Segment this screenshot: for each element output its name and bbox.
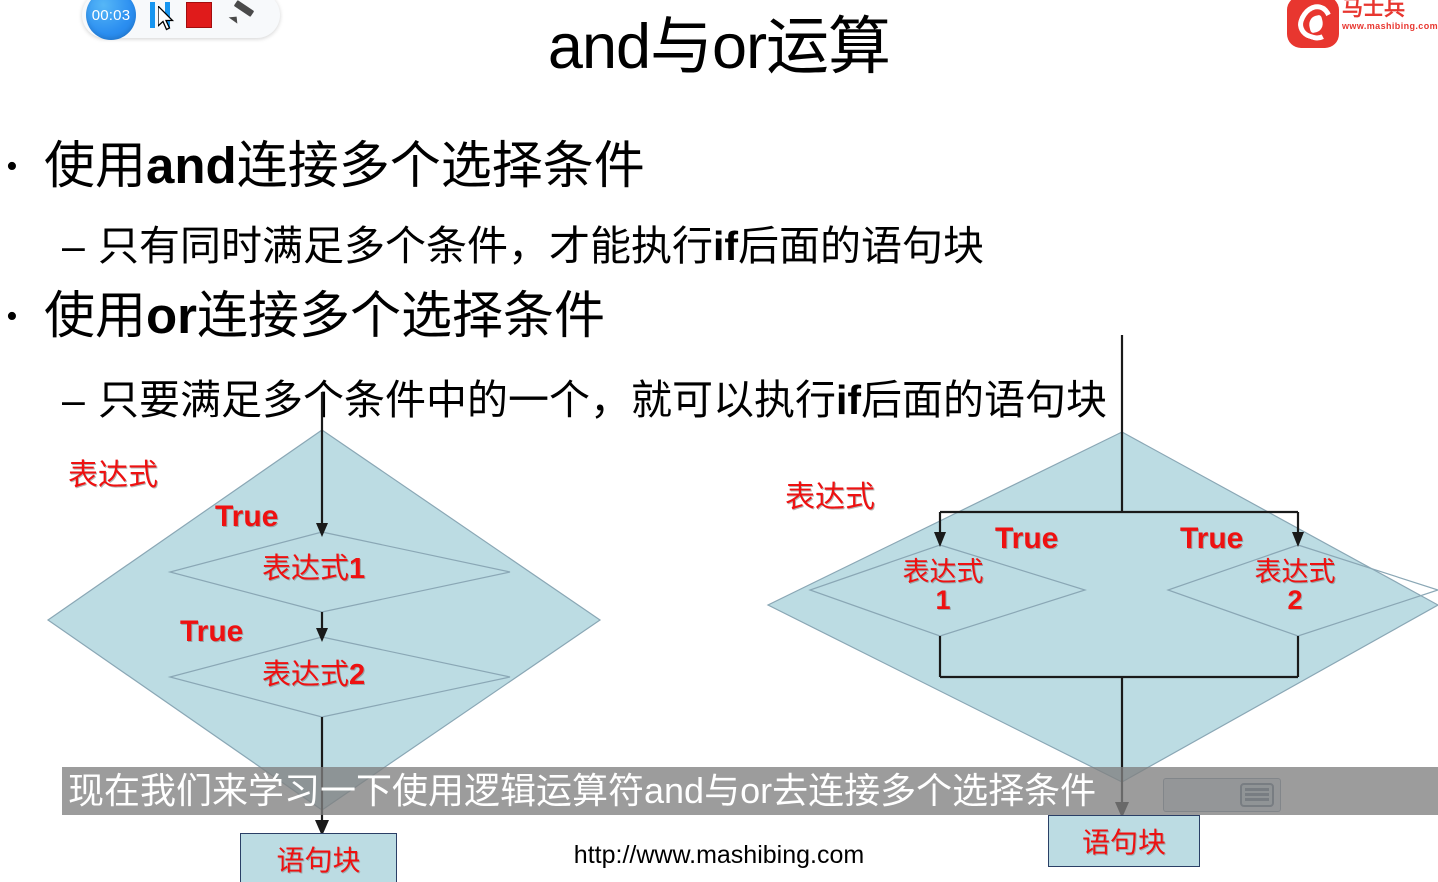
or-inner-label-2-text: 表达式 xyxy=(1255,557,1336,587)
or-inner-label-1: 表达式 1 xyxy=(893,558,993,615)
or-inner-label-2-num: 2 xyxy=(1287,585,1302,615)
or-flow-diagram xyxy=(0,0,1438,882)
slide-screenshot: 00:03 马士兵 www.mashibing.com and与or运算 •使用… xyxy=(0,0,1438,882)
mouse-cursor-icon xyxy=(158,6,176,32)
or-outer-label: 表达式 xyxy=(785,482,875,514)
or-true-label-1: True xyxy=(995,522,1058,556)
or-inner-label-2: 表达式 2 xyxy=(1245,558,1345,615)
or-inner-label-1-text: 表达式 xyxy=(903,557,984,587)
subtitle-text: 现在我们来学习一下使用逻辑运算符and与or去连接多个选择条件 xyxy=(62,773,1096,809)
or-inner-label-1-num: 1 xyxy=(935,585,950,615)
subtitle-bar: 现在我们来学习一下使用逻辑运算符and与or去连接多个选择条件 xyxy=(62,767,1438,815)
footer-url: http://www.mashibing.com xyxy=(0,841,1438,870)
or-true-label-2: True xyxy=(1180,522,1243,556)
